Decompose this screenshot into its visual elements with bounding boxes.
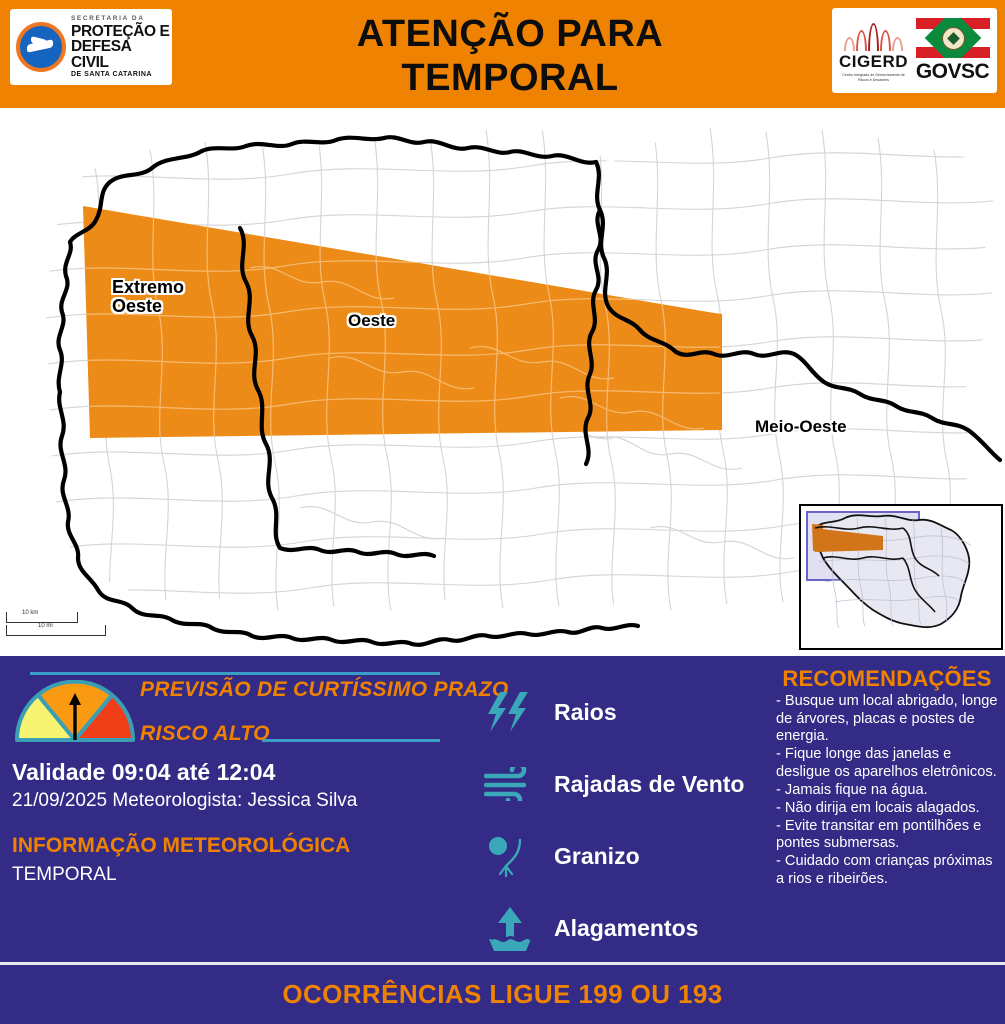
footer-bar: OCORRÊNCIAS LIGUE 199 OU 193 <box>0 965 1005 1024</box>
inset-locator-map[interactable] <box>799 504 1003 650</box>
recommendations-title: RECOMENDAÇÕES <box>776 666 998 692</box>
divider-risk <box>262 739 440 742</box>
recommendation-item: - Evite transitar em pontilhões e pontes… <box>776 818 998 853</box>
cigerd-logo: CIGERD Centro Integrado de Gerenciamento… <box>838 19 910 83</box>
map-label-meio-oeste: Meio-Oeste <box>755 418 847 436</box>
flood-icon <box>482 904 538 952</box>
logo-line-protecao: PROTEÇÃO E <box>71 24 172 40</box>
hazard-label: Alagamentos <box>554 915 698 942</box>
wind-gust-icon <box>482 760 538 808</box>
recommendations-list: - Busque um local abrigado, longe de árv… <box>776 693 998 888</box>
recommendation-item: - Jamais fique na água. <box>776 782 998 800</box>
scalebar-km-label: 10 km <box>22 610 38 616</box>
govsc-logo: GOVSC <box>914 18 992 84</box>
govsc-gov: GOV <box>916 60 961 83</box>
hazard-label: Granizo <box>554 843 640 870</box>
recommendation-item: - Busque um local abrigado, longe de árv… <box>776 693 998 746</box>
hazard-item-rajadas: Rajadas de Vento <box>482 748 762 820</box>
inset-map-svg <box>801 506 997 644</box>
alert-area-east-tip <box>640 304 722 430</box>
lightning-icon <box>482 688 538 736</box>
map-label-extremo-line2: Oeste <box>112 297 184 316</box>
forecast-title: PREVISÃO DE CURTÍSSIMO PRAZO <box>140 678 509 702</box>
risk-gauge-svg <box>14 680 136 744</box>
defesa-civil-seal-icon <box>16 22 66 72</box>
cigerd-name: CIGERD <box>839 52 908 72</box>
hail-icon <box>482 832 538 880</box>
page-title: ATENÇÃO PARA TEMPORAL <box>260 12 760 100</box>
recommendation-item: - Não dirija em locais alagados. <box>776 800 998 818</box>
emergency-phone-text: OCORRÊNCIAS LIGUE 199 OU 193 <box>282 979 722 1010</box>
hazard-list: Raios Rajadas de Vento <box>482 676 762 964</box>
logo-line-santa-catarina: DE SANTA CATARINA <box>71 71 172 78</box>
meteorological-info-title: INFORMAÇÃO METEOROLÓGICA <box>12 834 350 858</box>
defesa-civil-logo: SECRETARIA DA PROTEÇÃO E DEFESA CIVIL DE… <box>10 9 172 85</box>
map-scalebar: 10 km 10 mi <box>6 610 110 640</box>
logo-line-secretaria: SECRETARIA DA <box>71 16 172 23</box>
alert-area-polygon <box>83 206 720 438</box>
cigerd-subtitle: Centro Integrado de Gerenciamento de Ris… <box>838 73 910 83</box>
recommendation-item: - Fique longe das janelas e desligue os … <box>776 746 998 781</box>
partner-logos: CIGERD Centro Integrado de Gerenciamento… <box>832 8 997 93</box>
info-panel: PREVISÃO DE CURTÍSSIMO PRAZO RISCO ALTO … <box>0 656 1005 962</box>
validity-text: Validade 09:04 até 12:04 <box>12 759 275 786</box>
page-title-line1: ATENÇÃO PARA <box>260 12 760 56</box>
map-label-oeste: Oeste <box>348 312 395 330</box>
divider-top <box>30 672 440 675</box>
recommendation-item: - Cuidado com crianças próximas a rios e… <box>776 853 998 888</box>
date-meteorologist-text: 21/09/2025 Meteorologista: Jessica Silva <box>12 790 357 812</box>
scalebar-mi-label: 10 mi <box>38 623 53 629</box>
cigerd-waves-icon <box>844 19 903 51</box>
santa-catarina-flag-icon <box>916 18 990 58</box>
govsc-sc: SC <box>961 60 989 83</box>
risk-gauge <box>14 680 136 744</box>
hazard-item-raios: Raios <box>482 676 762 748</box>
map-label-extremo-line1: Extremo <box>112 278 184 297</box>
hazard-item-granizo: Granizo <box>482 820 762 892</box>
meteorological-info-body: TEMPORAL <box>12 864 117 886</box>
page-title-line2: TEMPORAL <box>260 56 760 100</box>
alert-poster: SECRETARIA DA PROTEÇÃO E DEFESA CIVIL DE… <box>0 0 1005 1024</box>
alert-map[interactable]: Extremo Oeste Oeste Meio-Oeste 10 km 10 … <box>0 108 1005 654</box>
header-bar: SECRETARIA DA PROTEÇÃO E DEFESA CIVIL DE… <box>0 0 1005 108</box>
hazard-label: Rajadas de Vento <box>554 771 744 798</box>
hazard-label: Raios <box>554 699 617 726</box>
govsc-wordmark: GOVSC <box>916 60 989 84</box>
map-label-extremo-oeste: Extremo Oeste <box>112 278 184 316</box>
recommendations-block: RECOMENDAÇÕES - Busque um local abrigado… <box>776 666 998 889</box>
logo-line-defesa-civil: DEFESA CIVIL <box>71 39 172 70</box>
risk-level-title: RISCO ALTO <box>140 722 270 746</box>
hazard-item-alagamentos: Alagamentos <box>482 892 762 964</box>
